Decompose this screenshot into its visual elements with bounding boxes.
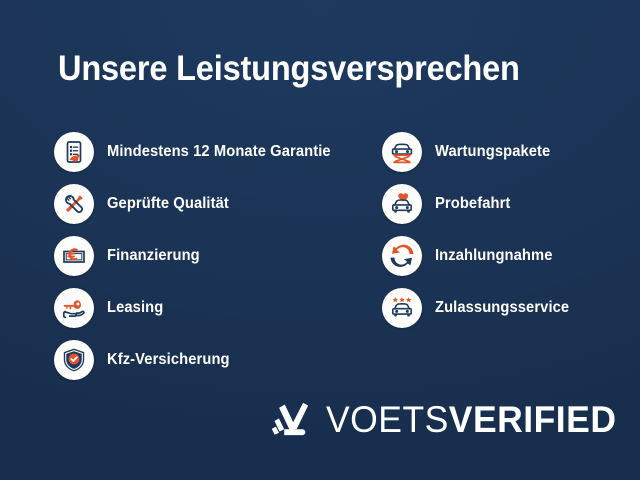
feature-list-left: Mindestens 12 Monate Garantie: [54, 126, 384, 386]
feature-label: Leasing: [107, 299, 163, 317]
feature-item-inzahlungnahme[interactable]: Inzahlungnahme: [382, 230, 632, 282]
logo-text-verified: VERIFIED: [449, 399, 617, 440]
feature-label: Finanzierung: [107, 247, 200, 265]
feature-label: Geprüfte Qualität: [107, 195, 229, 213]
feature-label: Probefahrt: [435, 195, 510, 213]
feature-item-qualitaet[interactable]: Geprüfte Qualität: [54, 178, 384, 230]
voets-verified-logo[interactable]: VOETSVERIFIED: [272, 398, 629, 442]
feature-item-versicherung[interactable]: Kfz-Versicherung: [54, 334, 384, 386]
shield-check-icon: [54, 340, 94, 380]
feature-item-leasing[interactable]: Leasing: [54, 282, 384, 334]
voets-v-mark-icon: [272, 398, 316, 442]
exchange-arrows-icon: [382, 236, 422, 276]
euro-banknote-icon: [54, 236, 94, 276]
feature-item-probefahrt[interactable]: Probefahrt: [382, 178, 632, 230]
feature-label: Kfz-Versicherung: [107, 351, 230, 369]
feature-item-wartungspakete[interactable]: Wartungspakete: [382, 126, 632, 178]
feature-item-finanzierung[interactable]: Finanzierung: [54, 230, 384, 282]
logo-wordmark: VOETSVERIFIED: [326, 400, 616, 440]
car-lift-icon: [382, 132, 422, 172]
feature-item-zulassungsservice[interactable]: Zulassungsservice: [382, 282, 632, 334]
logo-text-voets: VOETS: [326, 399, 449, 440]
car-heart-icon: [382, 184, 422, 224]
page-title: Unsere Leistungsversprechen: [58, 48, 579, 90]
feature-list-right: Wartungspakete Probefahrt: [382, 126, 632, 334]
car-stars-icon: [382, 288, 422, 328]
promo-banner: Unsere Leistungsversprechen Mindestens 1…: [0, 0, 640, 480]
feature-label: Inzahlungnahme: [435, 247, 553, 265]
certificate-document-icon: [54, 132, 94, 172]
feature-label: Mindestens 12 Monate Garantie: [107, 143, 331, 161]
feature-item-garantie[interactable]: Mindestens 12 Monate Garantie: [54, 126, 384, 178]
feature-label: Wartungspakete: [435, 143, 550, 161]
hand-key-icon: [54, 288, 94, 328]
wrench-screwdriver-icon: [54, 184, 94, 224]
feature-label: Zulassungsservice: [435, 299, 569, 317]
